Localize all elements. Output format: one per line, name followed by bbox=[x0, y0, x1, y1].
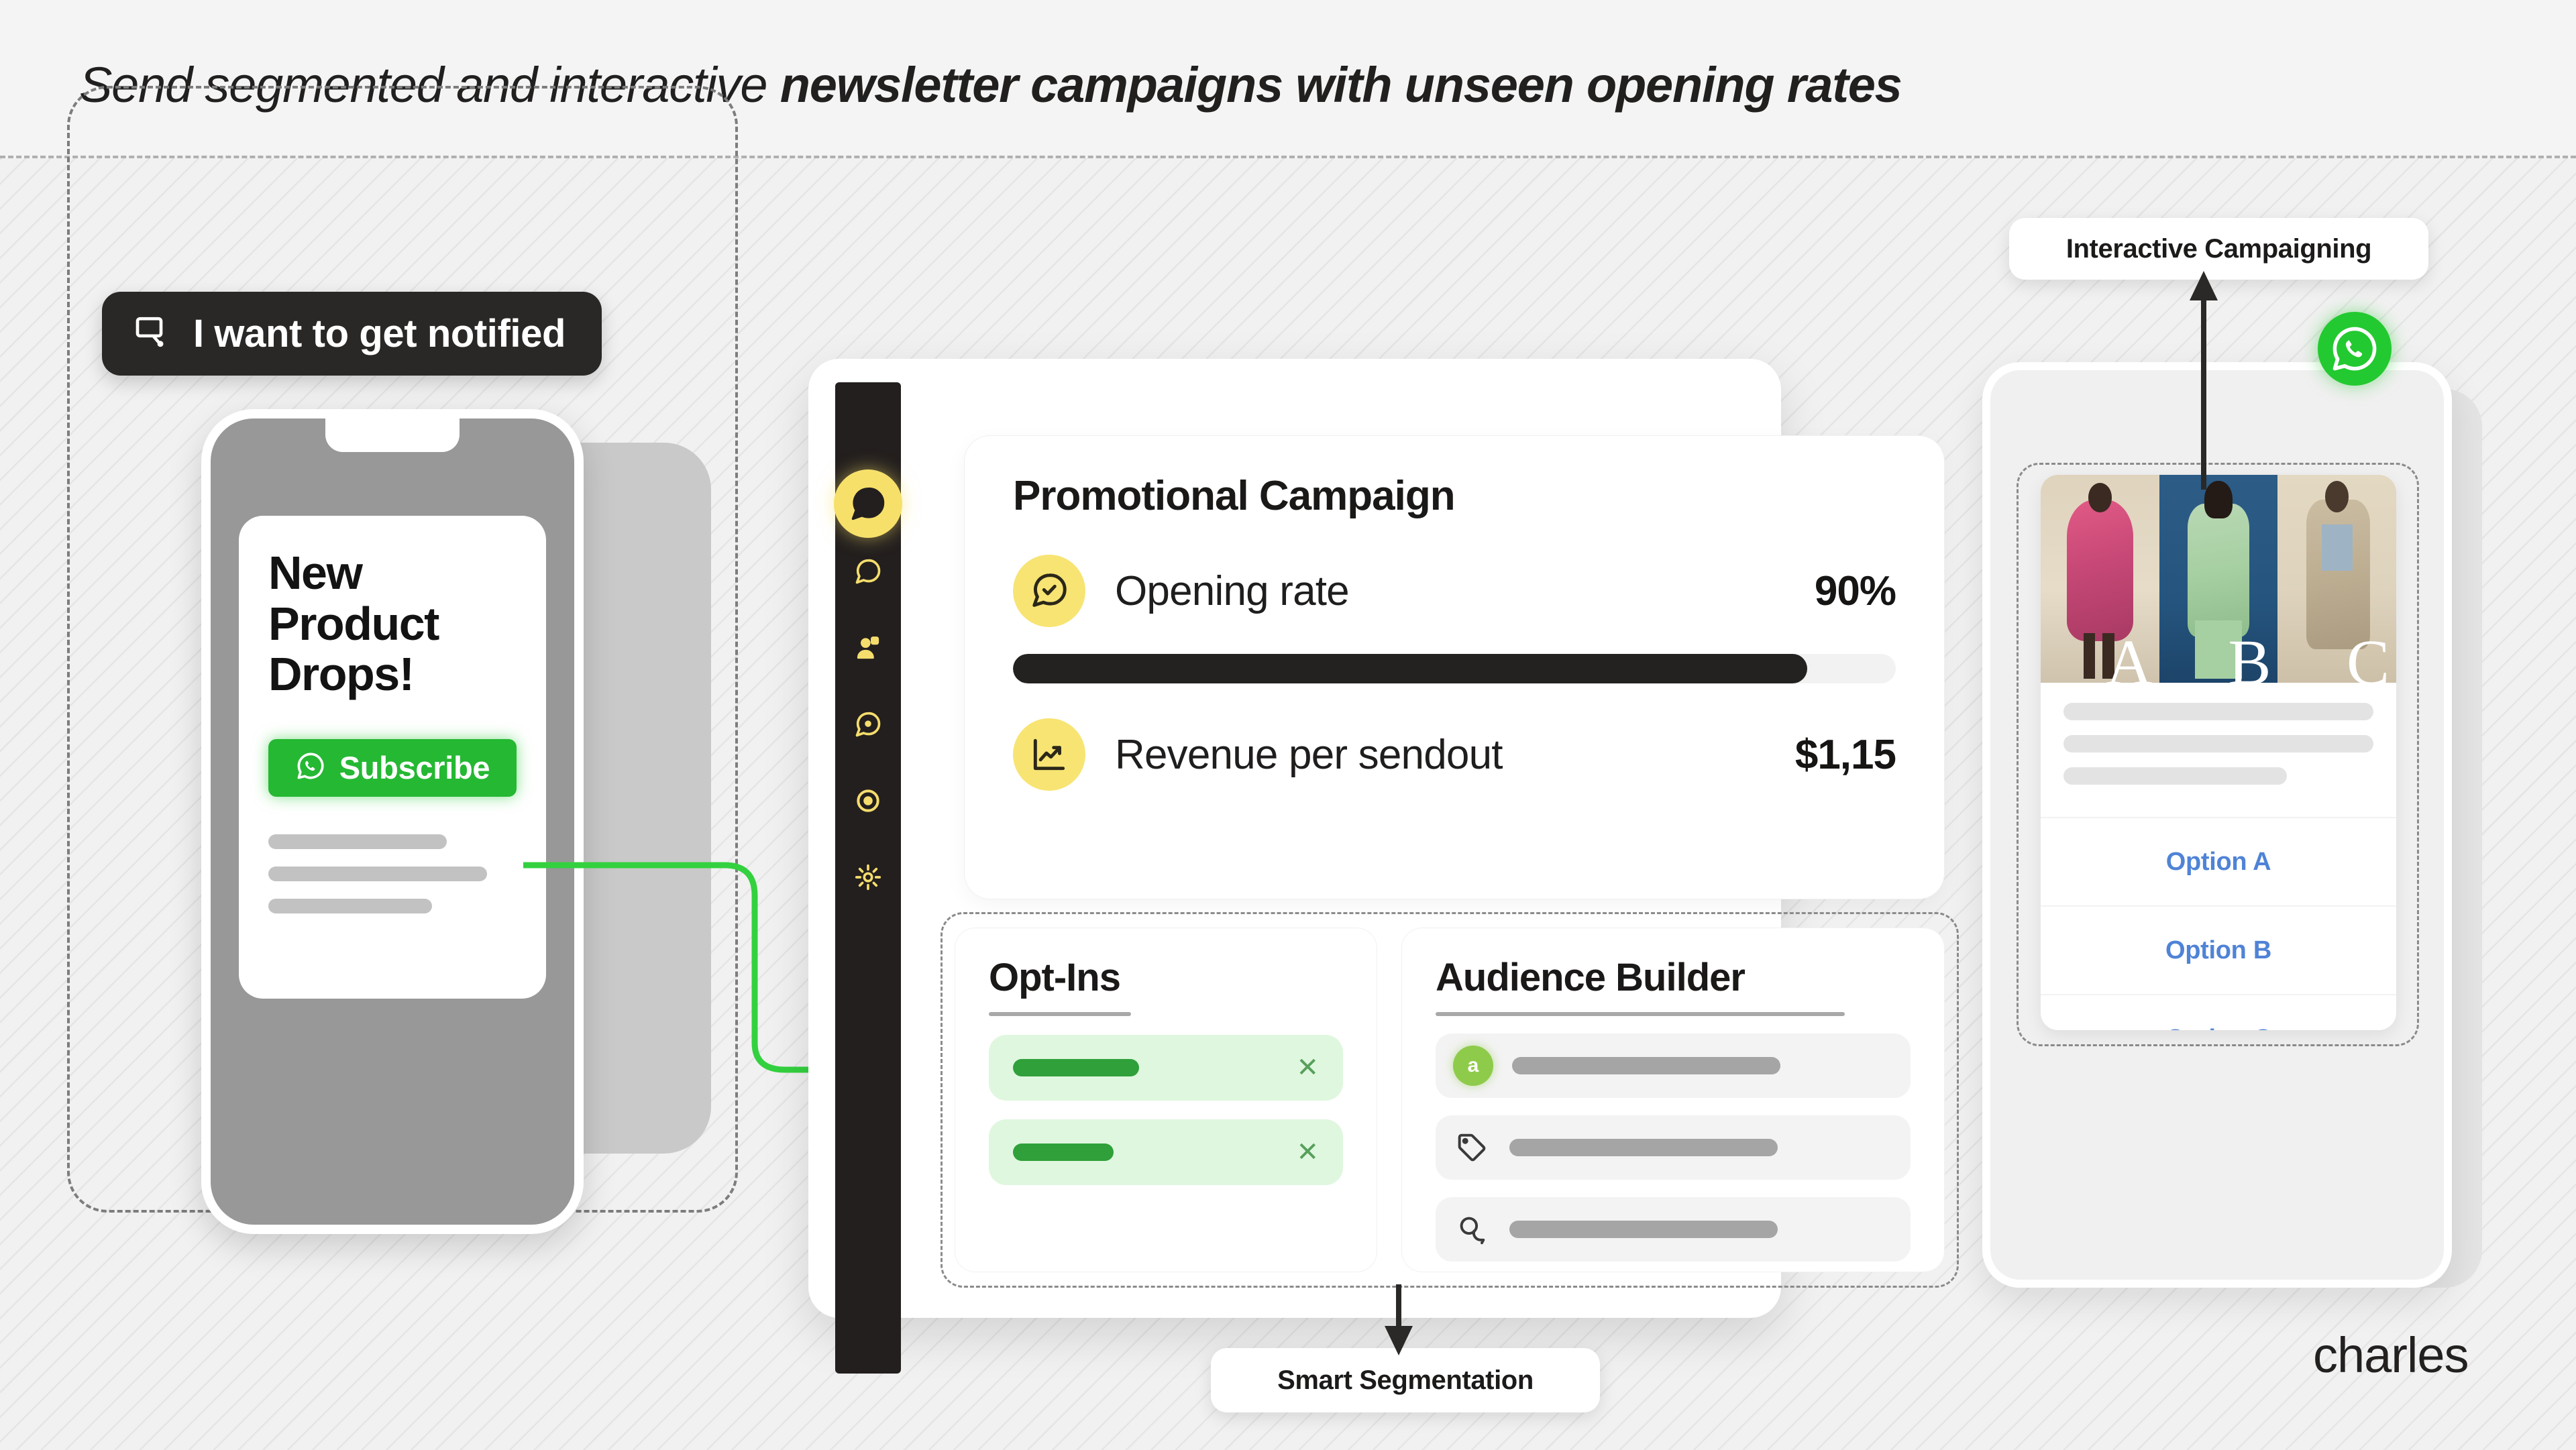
charles-logo: charles bbox=[2313, 1327, 2469, 1384]
opt-in-row[interactable]: ✕ bbox=[989, 1035, 1343, 1101]
subscribe-button[interactable]: Subscribe bbox=[268, 739, 517, 797]
sidebar-item-messages[interactable] bbox=[852, 708, 884, 740]
product-image-a: A bbox=[2041, 475, 2159, 683]
message-option-b[interactable]: Option B bbox=[2041, 905, 2396, 994]
metric-opening-rate: Opening rate 90% bbox=[1013, 555, 1896, 627]
placeholder-line bbox=[268, 867, 487, 881]
opt-ins-card: Opt-Ins ✕ ✕ bbox=[955, 928, 1377, 1272]
sidebar-item-target[interactable] bbox=[852, 785, 884, 817]
title-underline bbox=[989, 1012, 1131, 1016]
opt-in-row[interactable]: ✕ bbox=[989, 1119, 1343, 1185]
avatar-icon: a bbox=[1453, 1046, 1493, 1086]
campaign-title: Promotional Campaign bbox=[1013, 472, 1896, 520]
notify-badge-label: I want to get notified bbox=[193, 311, 566, 356]
placeholder-line bbox=[2063, 703, 2373, 720]
sidebar-active-chat-icon[interactable] bbox=[834, 469, 902, 538]
headline-bold: newsletter campaigns with unseen opening… bbox=[780, 57, 1902, 113]
audience-builder-title: Audience Builder bbox=[1436, 955, 1911, 1000]
placeholder-line bbox=[2063, 735, 2373, 752]
interactive-campaigning-arrow bbox=[2180, 268, 2227, 490]
opening-rate-icon bbox=[1013, 555, 1085, 627]
phone-screen: New Product Drops! Subscribe bbox=[239, 516, 546, 999]
campaign-card: Promotional Campaign Opening rate 90% Re… bbox=[965, 436, 1944, 899]
audience-row[interactable] bbox=[1436, 1115, 1911, 1180]
placeholder-line bbox=[268, 899, 432, 913]
sidebar-item-contacts[interactable] bbox=[852, 632, 884, 664]
metric-label: Opening rate bbox=[1115, 567, 1349, 615]
audience-row-placeholder bbox=[1509, 1221, 1778, 1238]
phone-mockup: New Product Drops! Subscribe bbox=[201, 409, 584, 1234]
audience-row-placeholder bbox=[1509, 1139, 1778, 1156]
close-icon[interactable]: ✕ bbox=[1296, 1139, 1319, 1166]
tag-icon bbox=[1453, 1129, 1491, 1166]
whatsapp-icon bbox=[2328, 323, 2381, 375]
revenue-chart-icon bbox=[1013, 718, 1085, 791]
notify-badge[interactable]: I want to get notified bbox=[102, 292, 602, 376]
image-label: C bbox=[2347, 630, 2390, 683]
opt-in-chip bbox=[1013, 1059, 1139, 1076]
chat-bubbles-icon bbox=[1453, 1211, 1491, 1248]
gear-icon[interactable] bbox=[852, 861, 884, 893]
product-image-b: B bbox=[2159, 475, 2278, 683]
phone-headline: New Product Drops! bbox=[268, 548, 517, 700]
message-placeholder-lines bbox=[2041, 683, 2396, 817]
whatsapp-badge bbox=[2318, 312, 2392, 386]
metric-revenue: Revenue per sendout $1,15 bbox=[1013, 718, 1896, 791]
smart-segmentation-arrow bbox=[1375, 1284, 1422, 1358]
close-icon[interactable]: ✕ bbox=[1296, 1054, 1319, 1081]
sidebar-item-chat[interactable] bbox=[852, 555, 884, 588]
audience-builder-card: Audience Builder a bbox=[1402, 928, 1944, 1272]
speech-bubble-icon bbox=[133, 313, 170, 354]
product-image-strip: A B C bbox=[2041, 475, 2396, 683]
phone-notch bbox=[325, 417, 460, 452]
metric-value: $1,15 bbox=[1795, 731, 1896, 779]
metric-label: Revenue per sendout bbox=[1115, 731, 1503, 779]
placeholder-line bbox=[2063, 767, 2287, 785]
audience-row-placeholder bbox=[1512, 1057, 1780, 1074]
audience-row[interactable]: a bbox=[1436, 1034, 1911, 1098]
opening-rate-progress-fill bbox=[1013, 654, 1807, 683]
image-label: B bbox=[2228, 630, 2271, 683]
placeholder-line bbox=[268, 834, 447, 849]
message-option-a[interactable]: Option A bbox=[2041, 817, 2396, 905]
opening-rate-progress-track bbox=[1013, 654, 1896, 683]
phone-placeholder-lines bbox=[268, 834, 517, 913]
whatsapp-icon bbox=[295, 750, 326, 785]
image-label: A bbox=[2106, 630, 2152, 683]
opt-in-chip bbox=[1013, 1144, 1114, 1161]
message-option-c[interactable]: Option C bbox=[2041, 994, 2396, 1030]
metric-value: 90% bbox=[1815, 567, 1896, 615]
title-underline bbox=[1436, 1012, 1845, 1016]
subscribe-button-label: Subscribe bbox=[339, 749, 490, 786]
product-image-c: C bbox=[2277, 475, 2396, 683]
audience-row[interactable] bbox=[1436, 1197, 1911, 1262]
whatsapp-message-card: A B C Option A Option B Option C bbox=[2041, 475, 2396, 1030]
opt-ins-title: Opt-Ins bbox=[989, 955, 1343, 1000]
